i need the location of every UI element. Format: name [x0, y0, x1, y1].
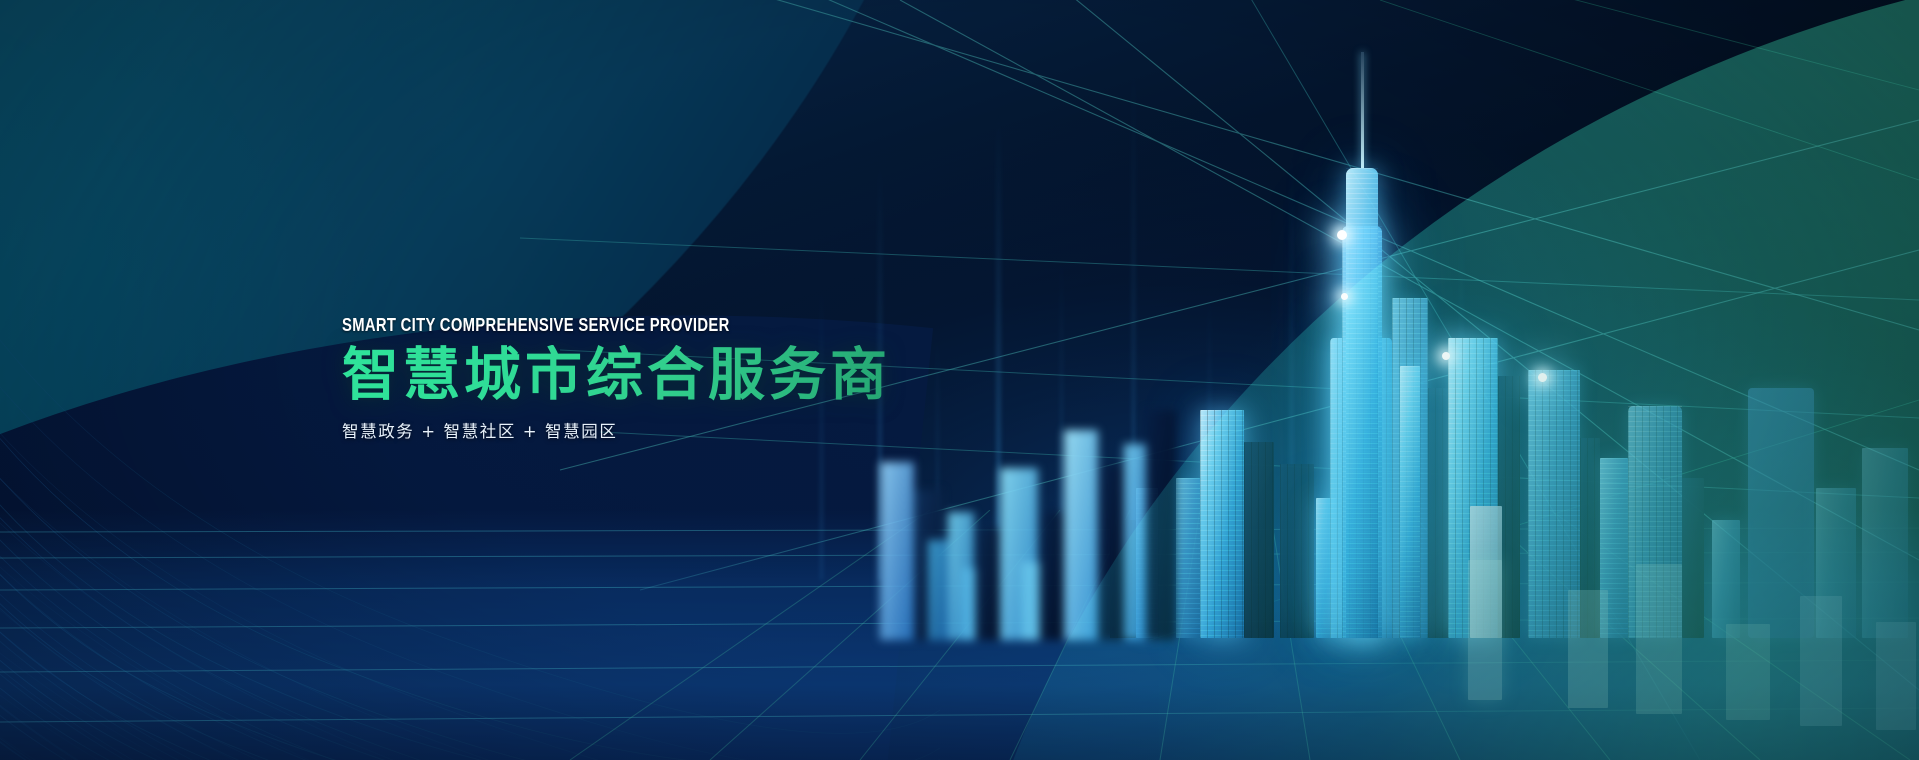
foreground-bar	[1022, 562, 1040, 640]
hero-tagline-chinese: 智慧政务 + 智慧社区 + 智慧园区	[342, 418, 891, 442]
ghost-slab	[1568, 590, 1608, 708]
building-tower	[1400, 366, 1420, 638]
hero-text-block: SMART CITY COMPREHENSIVE SERVICE PROVIDE…	[342, 315, 891, 442]
foreground-bar	[1146, 410, 1176, 640]
foreground-bar	[1038, 512, 1064, 640]
building-block	[1682, 478, 1704, 638]
foreground-bar	[880, 462, 914, 640]
ghost-slab	[1636, 564, 1682, 714]
hero-headline-chinese: 智慧城市综合服务商	[342, 345, 891, 405]
hero-eyebrow-english: SMART CITY COMPREHENSIVE SERVICE PROVIDE…	[342, 315, 781, 335]
ghost-slab	[1726, 624, 1770, 720]
building-block	[1712, 520, 1740, 638]
ghost-slab	[1800, 596, 1842, 726]
building-block	[1862, 448, 1908, 638]
foreground-bar	[1098, 465, 1124, 640]
tower-antenna	[1361, 52, 1364, 168]
tower-light-flare	[1341, 293, 1348, 300]
building-light-flare	[1538, 373, 1547, 382]
foreground-bar	[962, 568, 976, 640]
foreground-bar	[1124, 444, 1146, 640]
ghost-slab	[1876, 622, 1916, 730]
smart-city-hero-banner: SMART CITY COMPREHENSIVE SERVICE PROVIDE…	[0, 0, 1919, 760]
foreground-bar	[974, 528, 1000, 640]
foreground-bar	[928, 540, 948, 640]
tower-light-flare	[1337, 230, 1347, 240]
foreground-bar	[1064, 430, 1098, 640]
building-light-flare	[1442, 352, 1450, 360]
ghost-slab	[1468, 560, 1502, 700]
